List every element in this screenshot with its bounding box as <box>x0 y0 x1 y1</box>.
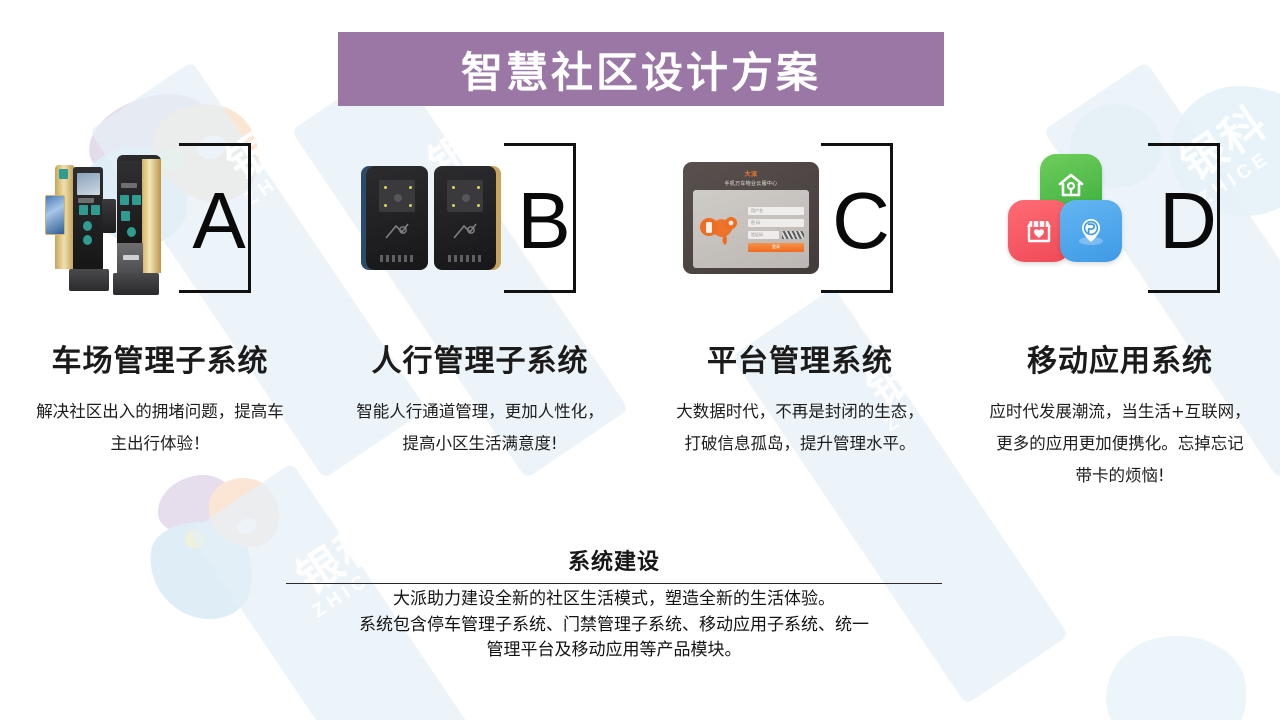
bottom-line-2: 系统包含停车管理子系统、门禁管理子系统、移动应用子系统、统一 <box>286 613 942 639</box>
tablet-password-label: 密 码 <box>751 220 760 226</box>
column-title-a: 车场管理子系统 <box>52 336 269 380</box>
bottom-heading: 系统建设 <box>286 548 942 579</box>
feature-column-pedestrian: B 人行管理子系统 智能人行通道管理，更加人性化，提高小区生活满意度! <box>320 118 640 493</box>
system-construction-section: 系统建设 大派助力建设全新的社区生活模式，塑造全新的生活体验。 系统包含停车管理… <box>286 548 942 664</box>
page-title: 智慧社区设计方案 <box>461 39 821 100</box>
tablet-captcha-field[interactable]: 验证码 <box>748 231 779 239</box>
tablet-username-field[interactable]: 用户名 <box>748 207 804 215</box>
feature-column-mobile: D 移动应用系统 应时代发展潮流，当生活+互联网，更多的应用更加便携化。忘掉忘记… <box>960 118 1280 493</box>
tablet-login-label: 登录 <box>772 244 780 250</box>
parking-kiosk-left <box>45 165 111 291</box>
access-panel-gold <box>434 166 496 270</box>
column-desc-a: 解决社区出入的拥堵问题，提高车主出行体验！ <box>29 396 291 460</box>
platform-network-graphic <box>698 203 744 255</box>
artwork-row-d: D <box>970 118 1270 318</box>
tablet-password-field[interactable]: 密 码 <box>748 219 804 227</box>
bracket-letter-d: D <box>1148 143 1244 293</box>
bracket-letter-c: C <box>821 143 917 293</box>
decor-blob-green-bottom <box>185 530 205 548</box>
tablet-brand: 大派 <box>744 169 757 178</box>
parking-kiosk-artwork <box>45 143 177 293</box>
mobile-app-artwork <box>996 154 1146 282</box>
artwork-row-b: B <box>330 118 630 318</box>
artwork-row-c: 大派 手机万车物业云服中心 <box>650 118 950 318</box>
tablet-login-panel: 用户名 密 码 验证码 <box>693 190 809 268</box>
smart-parking-icon <box>1060 200 1122 262</box>
tablet-captcha-row: 验证码 <box>748 231 804 239</box>
title-banner: 智慧社区设计方案 <box>338 32 944 106</box>
tablet-captcha-label: 验证码 <box>751 232 763 238</box>
column-desc-d: 应时代发展潮流，当生活+互联网，更多的应用更加便携化。忘掉忘记带卡的烦恼! <box>989 396 1251 493</box>
bottom-line-3: 管理平台及移动应用等产品模块。 <box>286 638 942 664</box>
tablet-login-form: 用户名 密 码 验证码 <box>748 207 804 252</box>
column-desc-b: 智能人行通道管理，更加人性化，提高小区生活满意度! <box>349 396 611 460</box>
tablet-username-label: 用户名 <box>751 208 763 214</box>
bracket-letter-b: B <box>504 143 600 293</box>
captcha-image[interactable] <box>782 231 804 239</box>
hand-gesture-icon <box>450 220 480 242</box>
artwork-row-a: A <box>10 118 310 318</box>
platform-tablet-artwork: 大派 手机万车物业云服中心 <box>683 162 819 274</box>
parking-kiosk-right <box>111 155 173 295</box>
tablet-login-button[interactable]: 登录 <box>748 243 804 252</box>
feature-column-platform: 大派 手机万车物业云服中心 <box>640 118 960 493</box>
bracket-letter-a: A <box>179 143 275 293</box>
tablet-header: 大派 手机万车物业云服中心 <box>687 166 815 190</box>
column-letter-b: B <box>517 181 570 261</box>
management-platform-tablet: 大派 手机万车物业云服中心 <box>683 162 819 274</box>
slide-canvas: 银科 ZHICE 银科 ZHICE 银科 ZHICE 银科 ZHICE 银科 Z… <box>0 0 1280 720</box>
column-letter-c: C <box>832 181 890 261</box>
hand-gesture-icon <box>382 220 412 242</box>
tablet-subtitle: 手机万车物业云服中心 <box>724 180 777 187</box>
decor-blob-peach-hole-bottom <box>235 516 259 536</box>
decor-blob-bottomright <box>1106 636 1246 720</box>
column-letter-a: A <box>192 181 245 261</box>
bottom-body: 大派助力建设全新的社区生活模式，塑造全新的生活体验。 系统包含停车管理子系统、门… <box>286 587 942 664</box>
feature-columns: A 车场管理子系统 解决社区出入的拥堵问题，提高车主出行体验！ <box>0 118 1280 493</box>
column-title-d: 移动应用系统 <box>1027 336 1213 380</box>
access-panel-artwork <box>360 158 502 278</box>
access-panel-blue <box>366 166 428 270</box>
column-title-b: 人行管理子系统 <box>372 336 589 380</box>
column-title-c: 平台管理系统 <box>707 336 893 380</box>
bottom-divider <box>286 583 942 584</box>
column-desc-c: 大数据时代，不再是封闭的生态，打破信息孤岛，提升管理水平。 <box>669 396 931 460</box>
decor-blob-blue-bottom <box>143 513 260 625</box>
feature-column-parking: A 车场管理子系统 解决社区出入的拥堵问题，提高车主出行体验！ <box>0 118 320 493</box>
column-letter-d: D <box>1159 181 1217 261</box>
bottom-line-1: 大派助力建设全新的社区生活模式，塑造全新的生活体验。 <box>286 587 942 613</box>
